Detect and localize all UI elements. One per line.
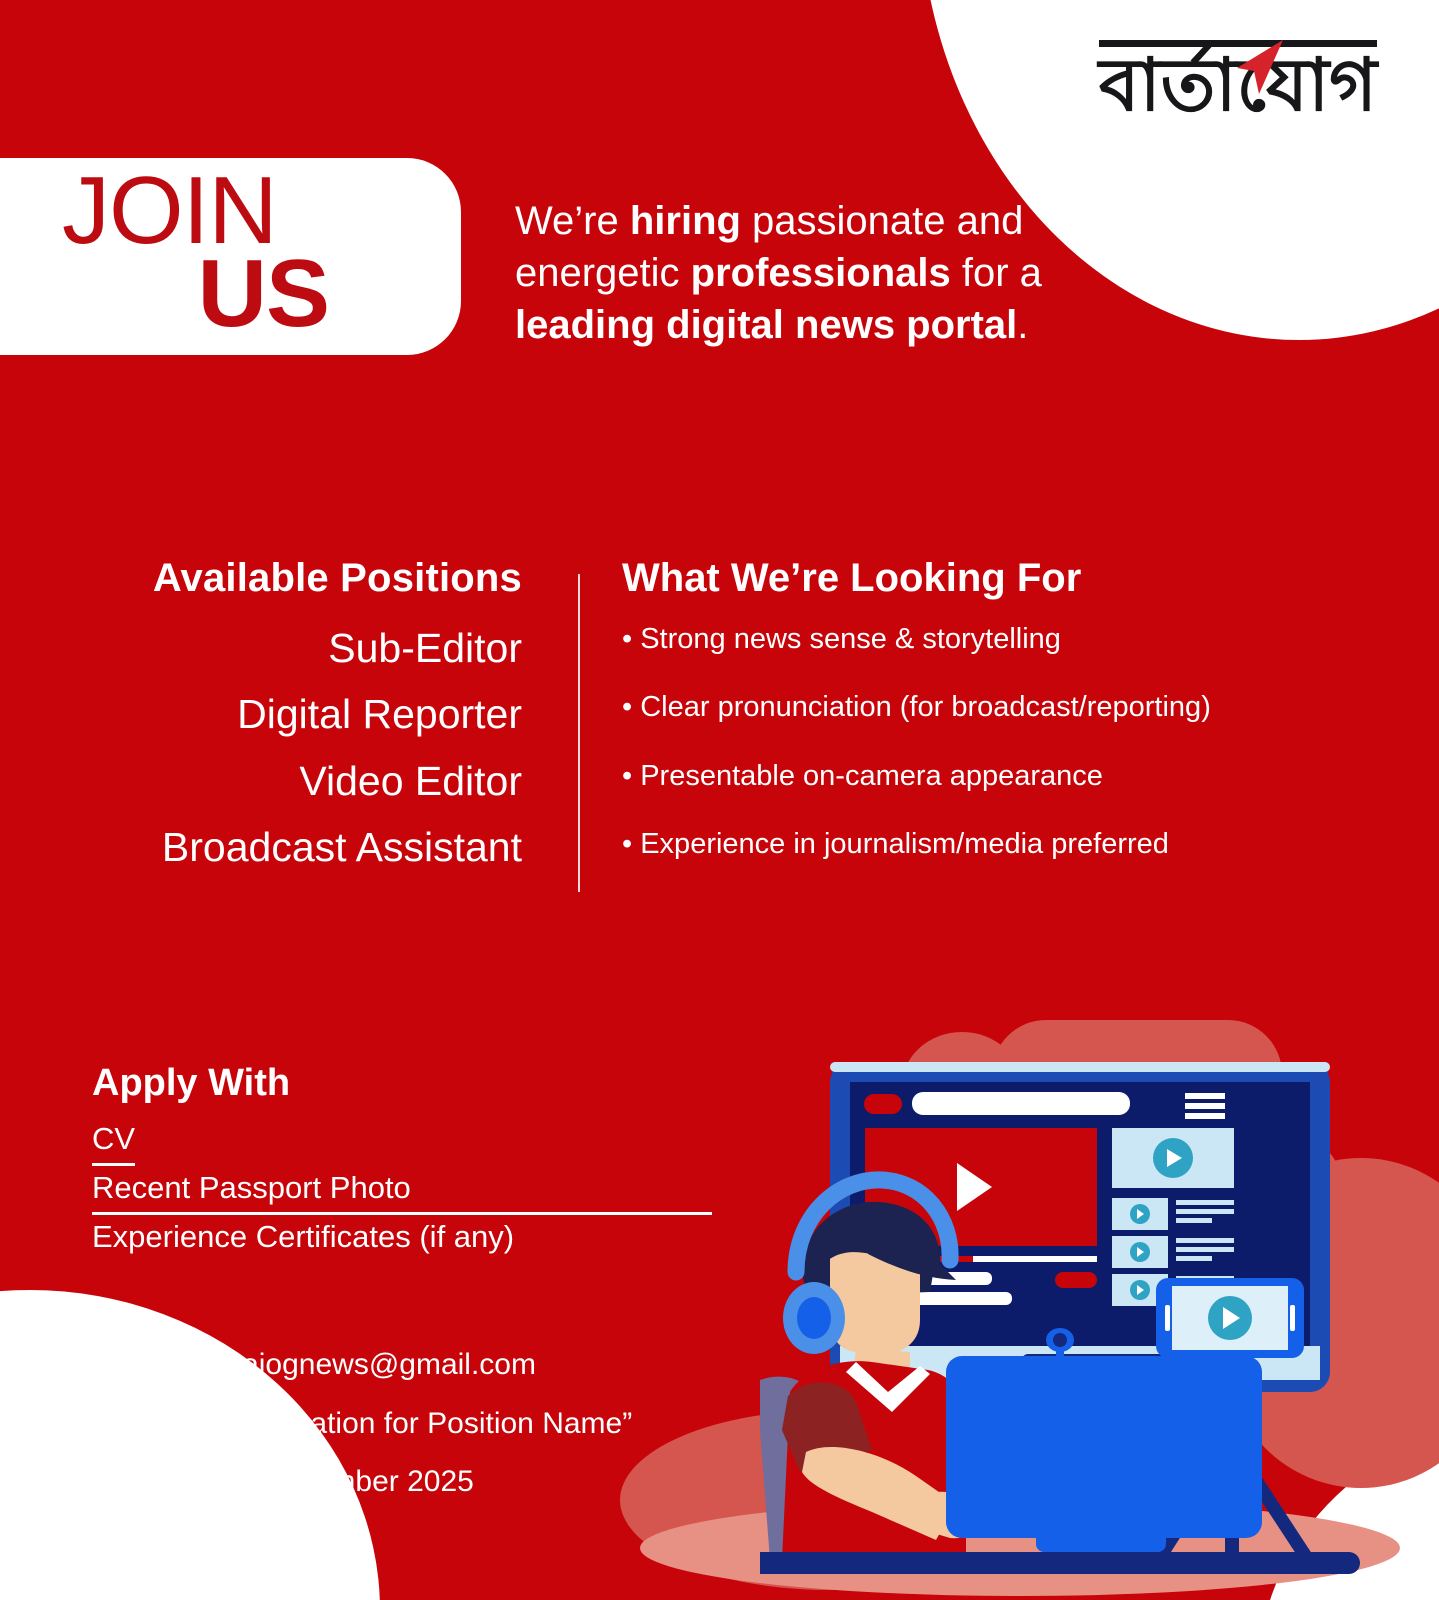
hamburger-menu-icon <box>1185 1093 1225 1119</box>
tagline-bold-hiring: hiring <box>630 199 741 243</box>
looking-for-heading: What We’re Looking For <box>622 556 1392 601</box>
hiring-tagline: We’re hiring passionate and energetic pr… <box>515 195 1155 351</box>
brand-logo: বার্তাযোগ <box>1099 40 1377 123</box>
join-us-badge: JOIN US <box>0 158 461 355</box>
requirement-item-0: • Strong news sense & storytelling <box>622 621 1392 657</box>
email-label: Email: <box>92 1348 182 1381</box>
contact-email-row: Email: bartajognews@gmail.com <box>92 1336 792 1395</box>
tagline-bold-portal: leading digital news portal <box>515 303 1017 347</box>
search-bar <box>912 1092 1130 1115</box>
email-value[interactable]: bartajognews@gmail.com <box>190 1348 536 1381</box>
desk-surface <box>760 1552 1360 1574</box>
requirement-item-2: • Presentable on-camera appearance <box>622 758 1392 794</box>
requirement-text-0: Strong news sense & storytelling <box>640 623 1061 655</box>
position-item-1: Digital Reporter <box>60 681 522 747</box>
video-editor-at-desk-illustration <box>760 1000 1439 1600</box>
looking-for-column: What We’re Looking For • Strong news sen… <box>622 556 1392 894</box>
apply-doc-row-2: Experience Certificates (if any) <box>92 1215 712 1260</box>
tagline-part-3: for a <box>951 251 1042 295</box>
requirement-item-3: • Experience in journalism/media preferr… <box>622 826 1392 862</box>
tagline-bold-professionals: professionals <box>691 251 951 295</box>
position-item-2: Video Editor <box>60 748 522 814</box>
two-column-section: Available Positions Sub-Editor Digital R… <box>0 556 1439 896</box>
apply-document-1: Recent Passport Photo <box>92 1166 712 1215</box>
available-positions-column: Available Positions Sub-Editor Digital R… <box>60 556 522 881</box>
column-divider <box>578 574 580 892</box>
record-pill <box>864 1094 902 1114</box>
apply-document-2: Experience Certificates (if any) <box>92 1215 514 1260</box>
bullet-glyph-1: • <box>622 691 632 723</box>
subject-value: “Application for Position Name” <box>219 1407 633 1440</box>
contact-deadline-row: Deadline: 5 December 2025 <box>92 1453 792 1512</box>
tagline-part-4: . <box>1017 303 1028 347</box>
apply-doc-row-0: CV <box>92 1117 712 1166</box>
apply-document-0: CV <box>92 1117 135 1166</box>
requirement-item-1: • Clear pronunciation (for broadcast/rep… <box>622 689 1392 725</box>
bullet-glyph-2: • <box>622 760 632 792</box>
requirement-text-3: Experience in journalism/media preferred <box>640 828 1169 860</box>
requirement-text-1: Clear pronunciation (for broadcast/repor… <box>640 691 1211 723</box>
cta-pill <box>1055 1272 1097 1288</box>
requirement-text-2: Presentable on-camera appearance <box>640 760 1103 792</box>
apply-with-section: Apply With CV Recent Passport Photo Expe… <box>92 1062 712 1260</box>
bullet-glyph-3: • <box>622 828 632 860</box>
deadline-value: 5 December 2025 <box>235 1465 473 1498</box>
apply-doc-row-1: Recent Passport Photo <box>92 1166 712 1215</box>
bullet-glyph-0: • <box>622 623 632 655</box>
desktop-monitor <box>946 1328 1262 1552</box>
deadline-label: Deadline: <box>92 1465 227 1498</box>
position-item-0: Sub-Editor <box>60 615 522 681</box>
tagline-part-1: We’re <box>515 199 630 243</box>
available-positions-heading: Available Positions <box>60 556 522 601</box>
job-poster: বার্তাযোগ JOIN US We’re hiring passionat… <box>0 0 1439 1600</box>
position-item-3: Broadcast Assistant <box>60 814 522 880</box>
subject-label: Subject: <box>92 1407 210 1440</box>
apply-with-heading: Apply With <box>92 1062 712 1105</box>
progress-fill <box>973 1256 1097 1262</box>
contact-subject-row: Subject: “Application for Position Name” <box>92 1395 792 1454</box>
contact-details: Email: bartajognews@gmail.com Subject: “… <box>92 1336 792 1512</box>
